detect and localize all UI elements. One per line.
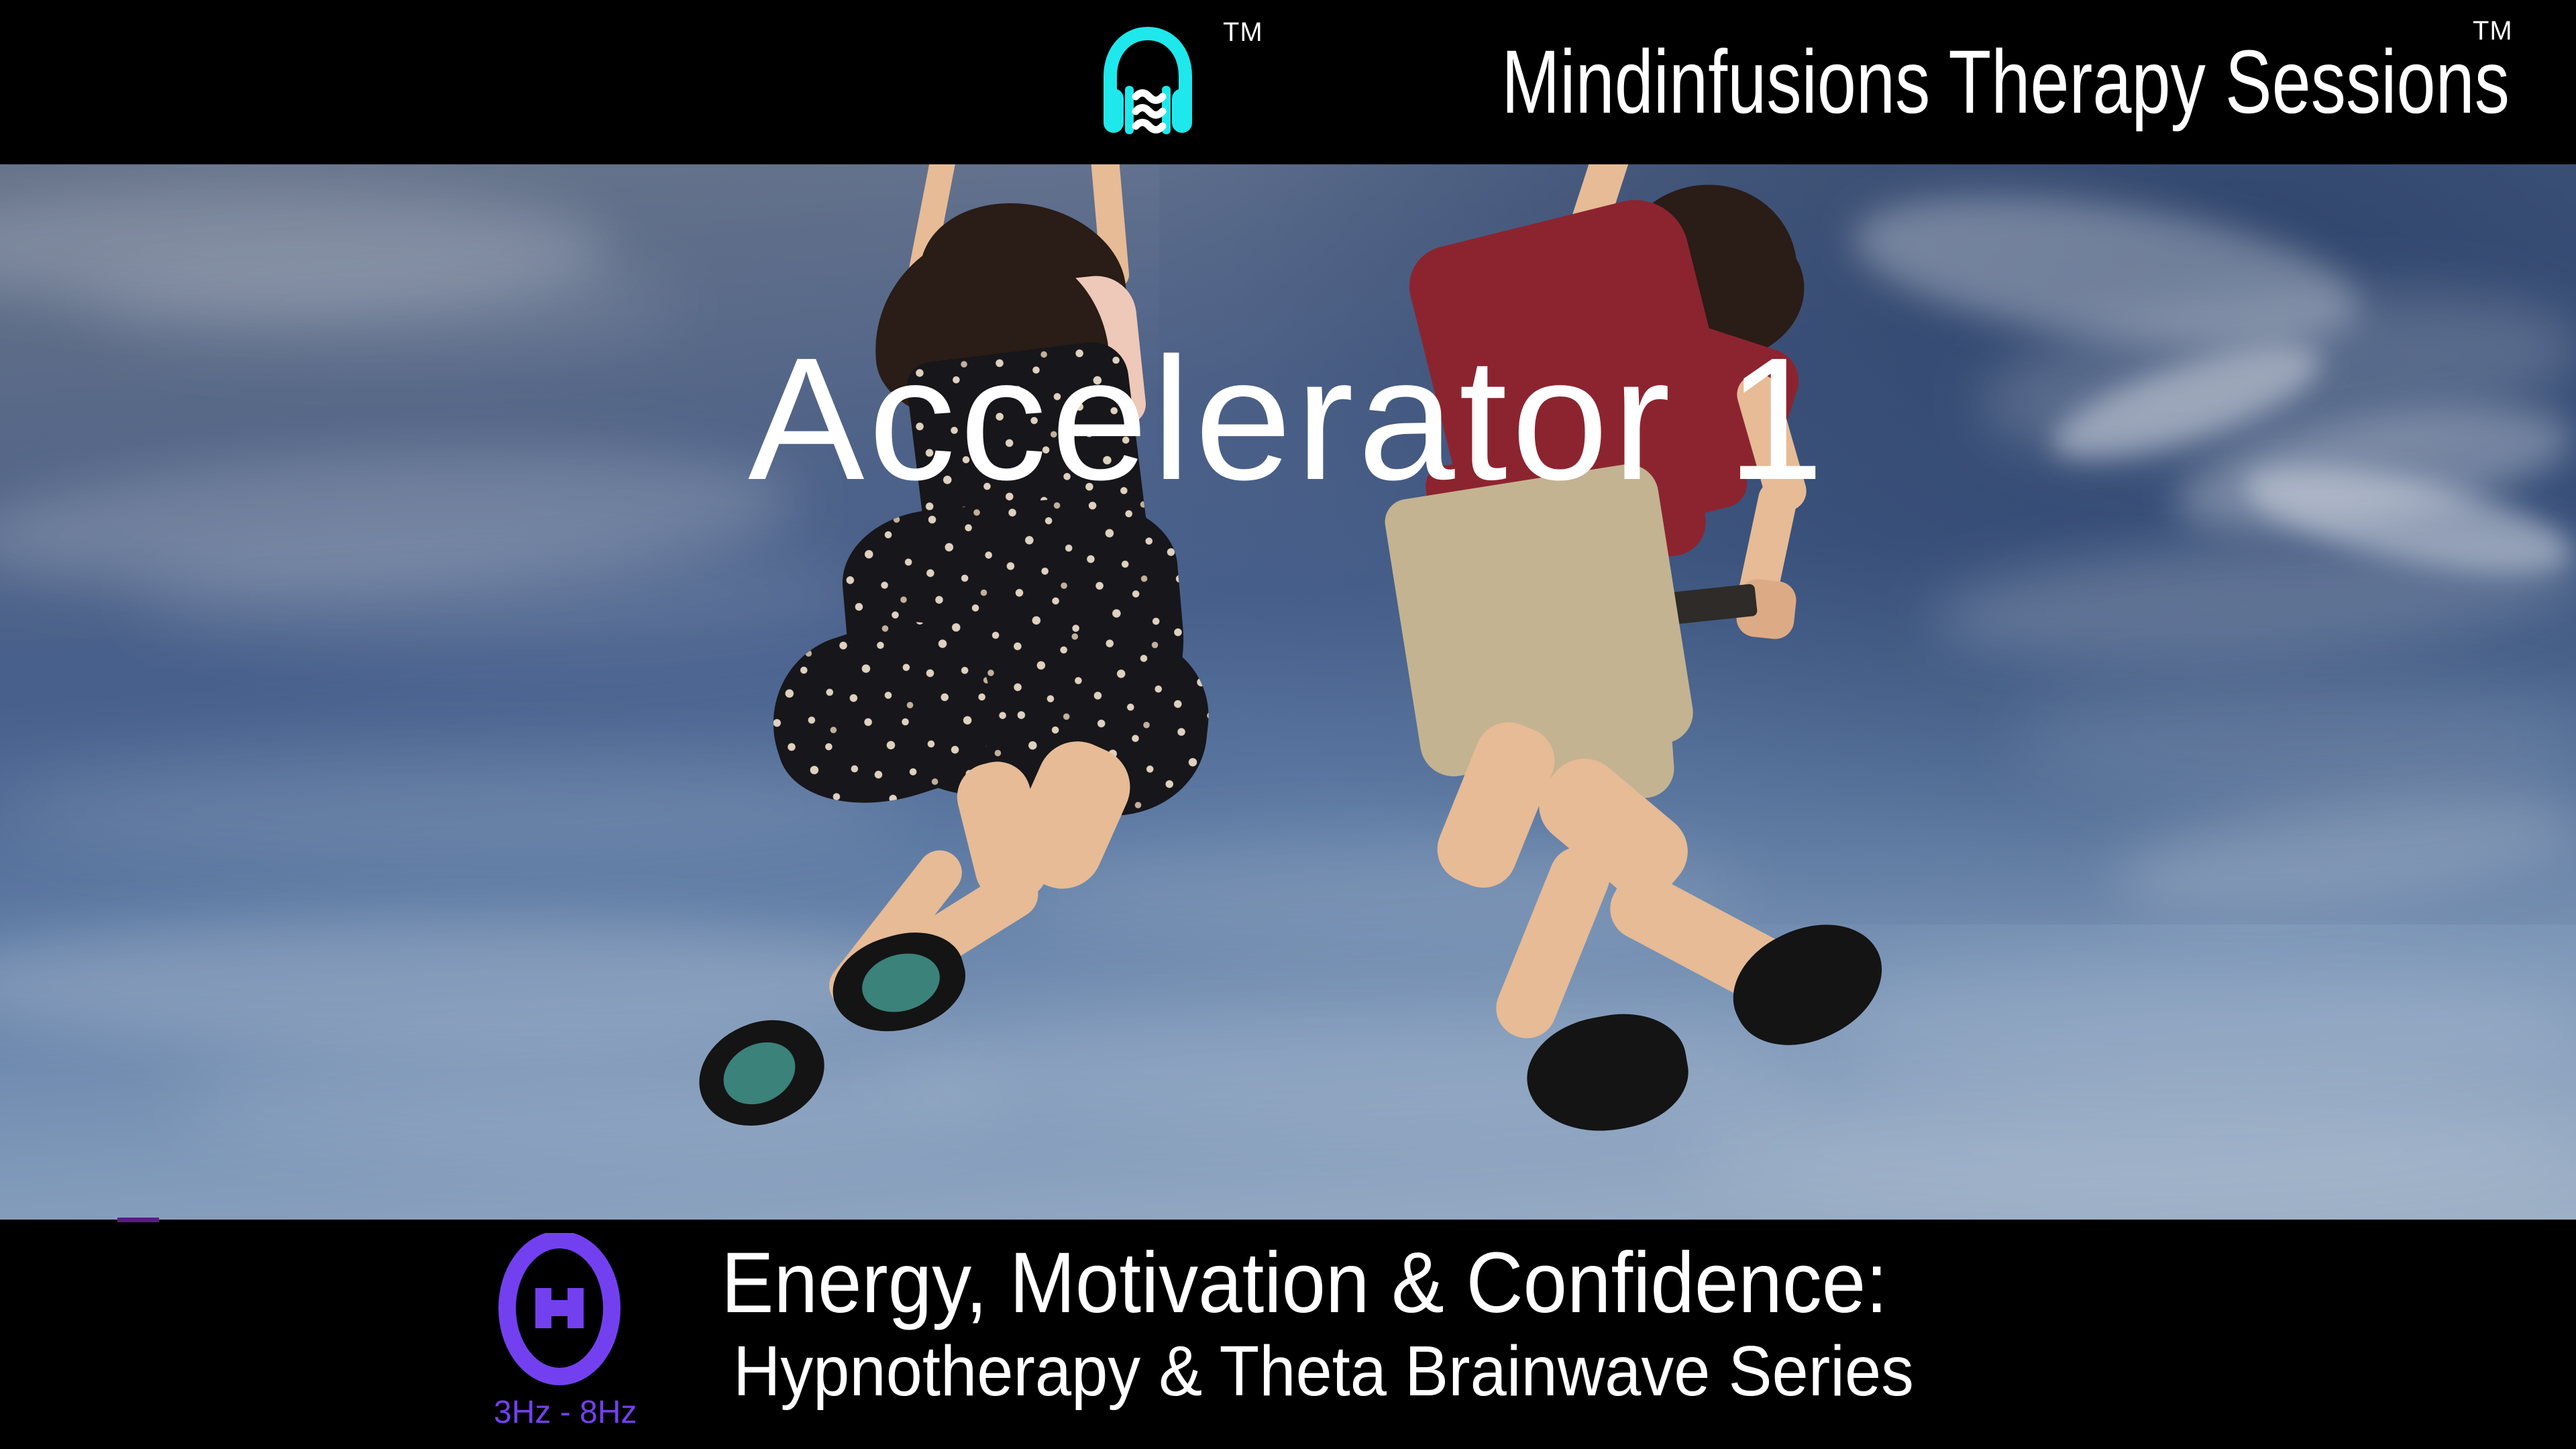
purple-line-artifact [117,1218,159,1222]
brand-header-bar: Mindinfusions Therapy Sessions [0,0,2576,164]
brand-group: Mindinfusions Therapy Sessions [1098,0,2556,164]
footer-text-block: Energy, Motivation & Confidence: Hypnoth… [721,1240,2017,1409]
footer-subheadline: Hypnotherapy & Theta Brainwave Series [733,1334,1914,1409]
trademark-mark-logo: TM [1223,19,1263,46]
cloud [2012,674,2576,795]
trademark-mark-title: TM [2473,17,2513,44]
frequency-range-label: 3Hz - 8Hz [494,1397,625,1429]
headphones-wave-icon [1098,27,1197,138]
video-thumbnail: Accelerator 1 Mind [0,0,2576,1449]
brand-title: Mindinfusions Therapy Sessions [1502,38,2556,127]
theta-icon: 3Hz - 8Hz [494,1233,635,1434]
footer-headline: Energy, Motivation & Confidence: [721,1240,1913,1328]
page-title: Accelerator 1 [0,332,2576,506]
